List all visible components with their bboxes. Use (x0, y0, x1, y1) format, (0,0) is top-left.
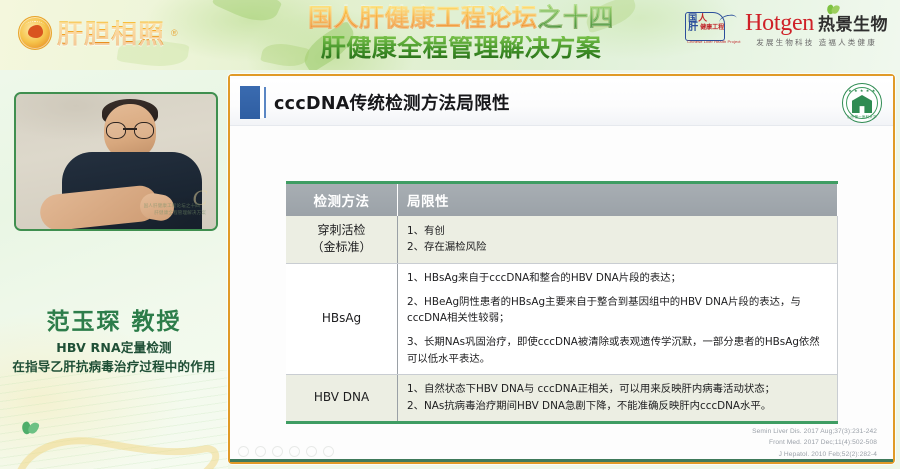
seal-bottom-text: 山东第一医科大学 (843, 114, 881, 119)
speaker-topic: HBV RNA定量检测 在指导乙肝抗病毒治疗过程中的作用 (0, 338, 228, 377)
slide-title-bar: cccDNA传统检测方法局限性 ★ ★ ★ ★ ★ 山东第一医科大学 (230, 79, 893, 126)
forum-title-main: 国人肝健康工程论坛 (308, 4, 538, 32)
slide-bottom-rule (230, 459, 893, 462)
limitation-item: 1、自然状态下HBV DNA与 cccDNA正相关，可以用来反映肝内病毒活动状态… (407, 381, 828, 398)
share-icon-bar[interactable] (238, 446, 334, 457)
photo-watermark: C 国人肝健康工程论坛之十四 肝健康全程管理解决方案 (136, 183, 210, 223)
limitation-item: 2、存在漏检风险 (407, 239, 828, 256)
clhp-char-ren: 人 (698, 14, 707, 23)
leaf-decoration-icon (212, 0, 283, 30)
seal-stars: ★ ★ ★ ★ ★ (843, 88, 881, 93)
forum-title-block: 国人肝健康工程论坛之十四 肝健康全程管理解决方案 (286, 6, 636, 61)
hotgen-chinese-name: 热景生物 (818, 17, 888, 34)
liver-outline-artwork (8, 425, 223, 469)
qzone-icon[interactable] (272, 446, 283, 457)
butterfly-icon (22, 422, 40, 438)
method-line1: 穿刺活检 (295, 222, 388, 239)
speaker-topic-line1: HBV RNA定量检测 (0, 338, 228, 357)
limitation-item: 2、HBeAg阴性患者的HBsAg主要来自于整合到基因组中的HBV DNA片段的… (407, 294, 828, 328)
cell-limitations: 1、自然状态下HBV DNA与 cccDNA正相关，可以用来反映肝内病毒活动状态… (398, 375, 838, 421)
event-banner: 肝胆相照 ® 国人肝健康工程论坛之十四 肝健康全程管理解决方案 国 人 肝 健康… (0, 0, 900, 70)
speaker-photo-image: C 国人肝健康工程论坛之十四 肝健康全程管理解决方案 (16, 94, 216, 229)
hotgen-slogan: 发展生物科技 造福人类健康 (756, 37, 877, 48)
forum-title-edition: 之十四 (538, 4, 615, 32)
slide-title: cccDNA传统检测方法局限性 (274, 90, 510, 115)
university-seal-icon: ★ ★ ★ ★ ★ 山东第一医科大学 (842, 83, 882, 123)
link-icon[interactable] (289, 446, 300, 457)
hotgen-wordmark: Hotgen (745, 12, 814, 35)
method-line1: HBV DNA (295, 389, 388, 406)
registered-mark: ® (171, 28, 178, 38)
table-head: 检测方法 局限性 (286, 184, 838, 216)
table-row: HBV DNA 1、自然状态下HBV DNA与 cccDNA正相关，可以用来反映… (286, 375, 838, 421)
wechat-icon[interactable] (238, 446, 249, 457)
eyeglasses-icon (106, 122, 154, 138)
limitation-item: 1、有创 (407, 223, 828, 240)
table-header-row: 检测方法 局限性 (286, 184, 838, 216)
butterfly-icon (827, 5, 840, 17)
brand-logo-text: 肝胆相照 (57, 14, 165, 51)
clhp-english-name: Chinese Liver Health Project (687, 39, 741, 44)
column-header-method: 检测方法 (286, 184, 398, 216)
speaker-panel: C 国人肝健康工程论坛之十四 肝健康全程管理解决方案 范玉琛 教授 HBV RN… (0, 70, 228, 469)
cell-limitations: 1、HBsAg来自于cccDNA和整合的HBV DNA片段的表达； 2、HBeA… (398, 263, 838, 374)
method-line1: HBsAg (295, 310, 388, 327)
table: 检测方法 局限性 穿刺活检 （金标准） 1、有创 2、存在 (286, 184, 838, 421)
liver-seal-icon (18, 16, 52, 50)
title-accent-bar (240, 86, 260, 119)
cell-method: 穿刺活检 （金标准） (286, 216, 398, 263)
limitations-table: 检测方法 局限性 穿刺活检 （金标准） 1、有创 2、存在 (286, 181, 838, 424)
cell-method: HBsAg (286, 263, 398, 374)
limitation-item: 2、NAs抗病毒治疗期间HBV DNA急剧下降，不能准确反映肝内cccDNA水平… (407, 398, 828, 415)
more-icon[interactable] (323, 446, 334, 457)
brand-logo: 肝胆相照 ® (18, 14, 178, 51)
method-line2: （金标准） (295, 239, 388, 256)
table-row: HBsAg 1、HBsAg来自于cccDNA和整合的HBV DNA片段的表达； … (286, 263, 838, 374)
speaker-topic-line2: 在指导乙肝抗病毒治疗过程中的作用 (0, 357, 228, 376)
screenshot-root: 肝胆相照 ® 国人肝健康工程论坛之十四 肝健康全程管理解决方案 国 人 肝 健康… (0, 0, 900, 469)
forum-title-line1: 国人肝健康工程论坛之十四 (286, 6, 636, 31)
table-body: 穿刺活检 （金标准） 1、有创 2、存在漏检风险 HBsAg (286, 216, 838, 421)
mail-icon[interactable] (306, 446, 317, 457)
limitation-item: 1、HBsAg来自于cccDNA和整合的HBV DNA片段的表达； (407, 270, 828, 287)
reference-item: Front Med. 2017 Dec;11(4):502-508 (752, 437, 877, 448)
slide-frame: cccDNA传统检测方法局限性 ★ ★ ★ ★ ★ 山东第一医科大学 检测方法 … (228, 74, 895, 464)
speaker-photo: C 国人肝健康工程论坛之十四 肝健康全程管理解决方案 (14, 92, 218, 231)
speaker-name: 范玉琛 教授 (0, 302, 228, 336)
presentation-slide: cccDNA传统检测方法局限性 ★ ★ ★ ★ ★ 山东第一医科大学 检测方法 … (230, 76, 893, 462)
seal-gate-glyph (852, 95, 872, 113)
hotgen-logo: Hotgen 热景生物 发展生物科技 造福人类健康 (745, 12, 888, 49)
chinese-liver-health-project-logo: 国 人 肝 健康工程 Chinese Liver Health Project (685, 11, 737, 49)
column-header-limitation: 局限性 (398, 184, 838, 216)
table-row: 穿刺活检 （金标准） 1、有创 2、存在漏检风险 (286, 216, 838, 263)
forum-subtitle: 肝健康全程管理解决方案 (286, 36, 636, 61)
cell-limitations: 1、有创 2、存在漏检风险 (398, 216, 838, 263)
eyeglasses-bridge (123, 128, 137, 130)
clhp-char-gan: 肝 (688, 23, 698, 33)
limitation-item: 3、长期NAs巩固治疗，即使cccDNA被清除或表观遗传学沉默，一部分患者的HB… (407, 334, 828, 368)
reference-item: Semin Liver Dis. 2017 Aug;37(3):231-242 (752, 426, 877, 437)
weibo-icon[interactable] (255, 446, 266, 457)
sponsor-logos: 国 人 肝 健康工程 Chinese Liver Health Project … (685, 11, 888, 49)
photo-watermark-line2: 肝健康全程管理解决方案 (154, 210, 206, 216)
reference-citations: Semin Liver Dis. 2017 Aug;37(3):231-242 … (752, 426, 877, 460)
photo-watermark-line1: 国人肝健康工程论坛之十四 (144, 203, 200, 209)
cell-method: HBV DNA (286, 375, 398, 421)
hotgen-logo-row: Hotgen 热景生物 (745, 12, 888, 35)
